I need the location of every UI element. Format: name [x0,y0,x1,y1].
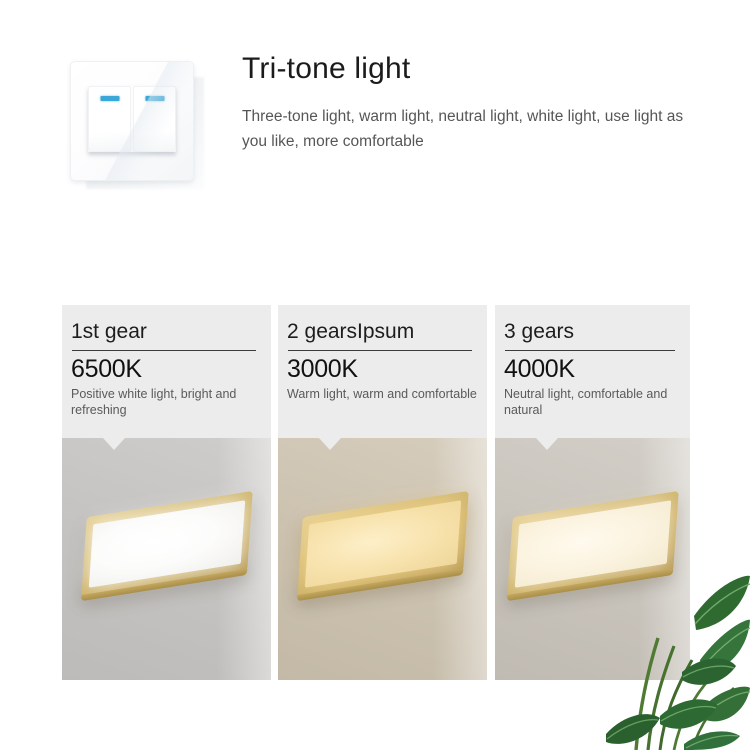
gear-card-header: 1st gear 6500K Positive white light, bri… [62,305,271,438]
kelvin-value: 6500K [71,355,262,384]
pointer-triangle-icon [536,438,558,450]
gear-card: 1st gear 6500K Positive white light, bri… [62,305,271,680]
gear-label: 1st gear [71,319,262,345]
divider [288,350,472,351]
gear-description: Neutral light, comfortable and natural [504,386,681,418]
product-banner: Tri-tone light Three-tone light, warm li… [0,0,750,750]
divider [505,350,675,351]
header-section: Tri-tone light Three-tone light, warm li… [0,0,750,250]
switch-rockers [88,86,176,152]
pointer-triangle-icon [103,438,125,450]
plant-leaves [606,576,750,750]
plant-decoration [596,520,750,750]
wall-switch-icon [62,55,212,195]
kelvin-value: 4000K [504,355,681,384]
pointer-triangle-icon [319,438,341,450]
lamp-photo [278,438,487,680]
gear-label: 3 gears [504,319,681,345]
gear-description: Warm light, warm and comfortable [287,386,478,402]
switch-faceplate [70,61,194,181]
gear-label: 2 gearsIpsum [287,319,478,345]
gear-card: 2 gearsIpsum 3000K Warm light, warm and … [278,305,487,680]
lamp-photo [62,438,271,680]
gear-card-header: 2 gearsIpsum 3000K Warm light, warm and … [278,305,487,438]
page-subtitle: Three-tone light, warm light, neutral li… [242,104,687,154]
led-indicator-icon [145,96,164,101]
divider [72,350,256,351]
kelvin-value: 3000K [287,355,478,384]
gear-description: Positive white light, bright and refresh… [71,386,262,418]
led-indicator-icon [100,96,119,101]
switch-rocker-left [88,86,131,152]
gear-card-header: 3 gears 4000K Neutral light, comfortable… [495,305,690,438]
page-title: Tri-tone light [242,52,410,86]
switch-rocker-right [133,86,176,152]
